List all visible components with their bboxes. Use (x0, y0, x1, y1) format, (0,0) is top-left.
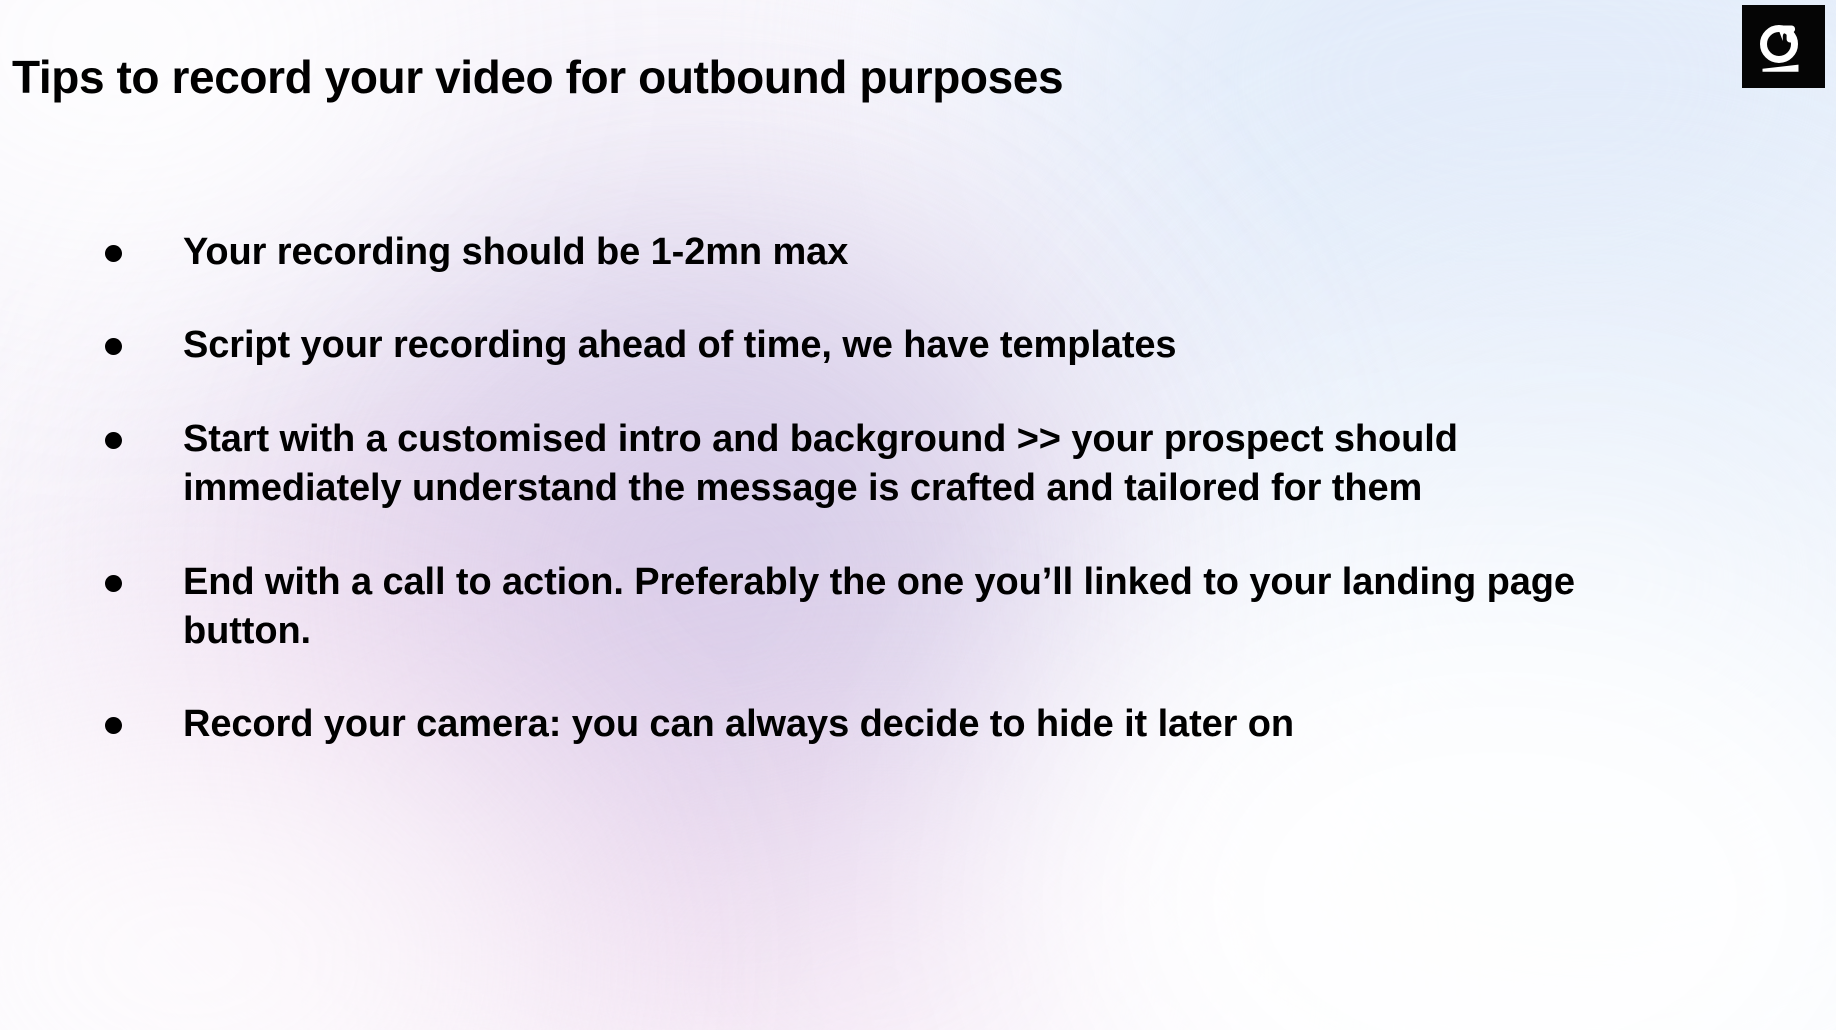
slide-title: Tips to record your video for outbound p… (12, 49, 1412, 105)
list-item: Start with a customised intro and backgr… (105, 415, 1745, 514)
bullet-dot-icon (105, 575, 122, 592)
slide-canvas: Tips to record your video for outbound p… (0, 0, 1836, 1030)
brand-logo (1742, 5, 1825, 88)
brand-logo-g-icon (1742, 5, 1825, 88)
list-item-label: End with a call to action. Preferably th… (183, 558, 1673, 657)
blob-pink-bottom (520, 790, 1240, 1030)
blob-white-top-left (0, 0, 440, 260)
list-item: Your recording should be 1-2mn max (105, 228, 1745, 277)
list-item: End with a call to action. Preferably th… (105, 558, 1745, 657)
bullet-dot-icon (105, 338, 122, 355)
bullet-dot-icon (105, 245, 122, 262)
list-item-label: Start with a customised intro and backgr… (183, 415, 1673, 514)
list-item-label: Script your recording ahead of time, we … (183, 321, 1673, 370)
list-item: Record your camera: you can always decid… (105, 700, 1745, 749)
list-item-label: Record your camera: you can always decid… (183, 700, 1673, 749)
list-item-label: Your recording should be 1-2mn max (183, 228, 1673, 277)
bullet-dot-icon (105, 432, 122, 449)
bullet-dot-icon (105, 717, 122, 734)
list-item: Script your recording ahead of time, we … (105, 321, 1745, 370)
tips-list: Your recording should be 1-2mn max Scrip… (105, 228, 1745, 750)
